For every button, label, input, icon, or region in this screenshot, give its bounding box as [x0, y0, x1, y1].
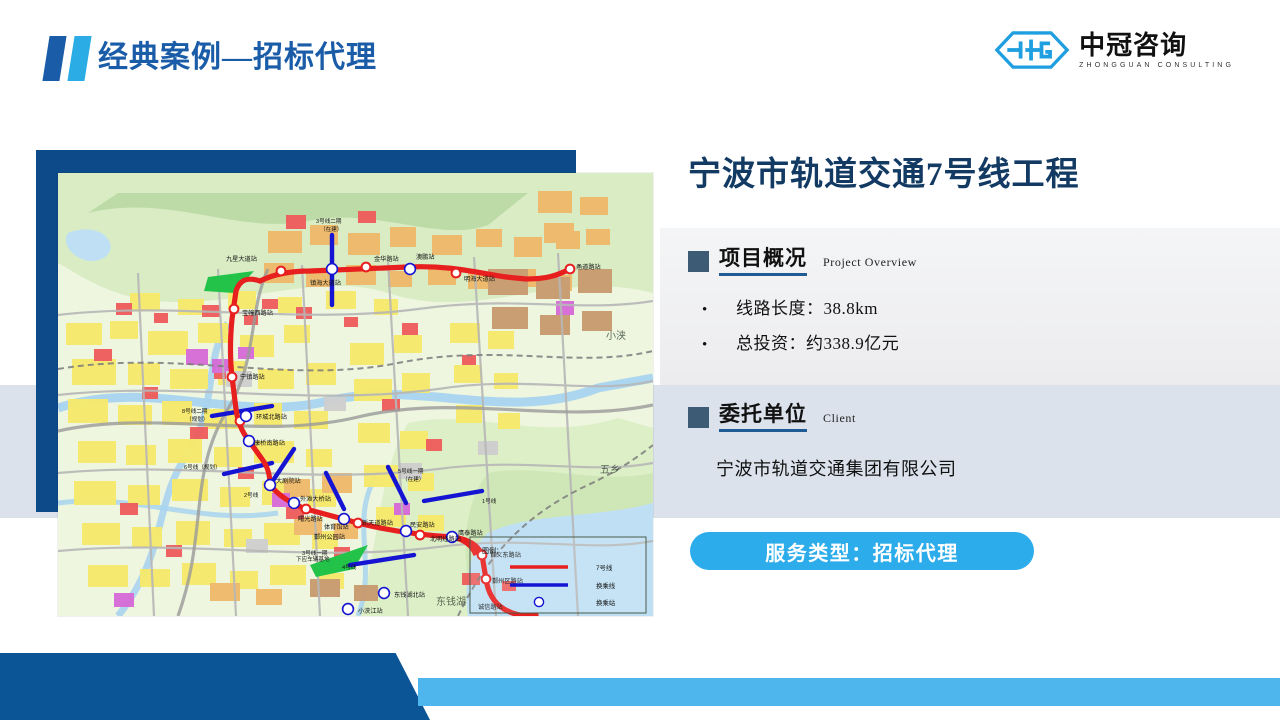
footer-shape-dark	[0, 653, 430, 720]
svg-text:（在建）: （在建）	[320, 225, 342, 233]
svg-text:甬道路站: 甬道路站	[576, 263, 601, 271]
title-accent-icon	[46, 36, 92, 81]
svg-text:金华路站: 金华路站	[374, 255, 399, 263]
svg-text:九星大道站: 九星大道站	[226, 255, 257, 263]
overview-title-en: Project Overview	[823, 255, 917, 270]
svg-text:环城北路站: 环城北路站	[256, 413, 287, 421]
overview-bullet-text: 线路长度：38.8km	[736, 299, 878, 318]
svg-text:2号线: 2号线	[244, 491, 259, 499]
svg-text:图例：: 图例：	[482, 546, 503, 555]
map-legend: 图例： 7号线 换乘线 换乘站	[470, 537, 646, 613]
svg-text:4号线: 4号线	[342, 563, 357, 571]
page-header: 经典案例—招标代理 中冠咨询 ZHONGGUAN CONSULTING	[0, 0, 1280, 110]
svg-text:五乡: 五乡	[600, 464, 620, 476]
overview-bullet-list: •线路长度：38.8km •总投资：约338.9亿元	[702, 292, 899, 362]
svg-text:鄞州公园站: 鄞州公园站	[314, 533, 345, 541]
logo-text: 中冠咨询 ZHONGGUAN CONSULTING	[1079, 32, 1234, 69]
svg-text:5号线一期: 5号线一期	[398, 467, 424, 475]
title-accent-bar-dark	[42, 36, 66, 81]
client-section: 委托单位 Client	[688, 402, 856, 432]
logo-subtitle: ZHONGGUAN CONSULTING	[1079, 62, 1234, 69]
svg-text:北明经路站: 北明经路站	[430, 535, 461, 543]
list-item: •总投资：约338.9亿元	[702, 327, 899, 362]
svg-text:小浃江站: 小浃江站	[358, 607, 383, 615]
svg-text:体育馆站: 体育馆站	[324, 523, 349, 531]
svg-text:宁镇路站: 宁镇路站	[240, 373, 265, 381]
svg-text:换乘站: 换乘站	[596, 598, 616, 607]
bullet-glyph: •	[702, 328, 736, 362]
svg-text:外滩大桥站: 外滩大桥站	[300, 495, 331, 503]
client-heading: 委托单位 Client	[688, 402, 856, 432]
svg-text:3号线一期: 3号线一期	[302, 549, 328, 557]
svg-text:澳鹏站: 澳鹏站	[416, 253, 435, 261]
footer-shape-light	[418, 678, 1280, 706]
svg-text:大剧院站: 大剧院站	[276, 477, 301, 485]
project-map-image[interactable]: 九星大道站 宝幢西路站 镇海大道站 金华路站 澳鹏站 明海大道站 甬道路站 宁镇…	[58, 173, 653, 616]
client-square-icon	[688, 407, 709, 428]
svg-text:小浃: 小浃	[606, 329, 626, 342]
svg-text:6号线（规划）: 6号线（规划）	[184, 463, 221, 471]
svg-text:（规划）: （规划）	[186, 415, 208, 423]
client-title-underline: 委托单位	[719, 402, 807, 432]
client-title-cn: 委托单位	[719, 402, 807, 426]
svg-text:7号线: 7号线	[596, 563, 613, 572]
svg-text:3号线二期: 3号线二期	[316, 217, 342, 225]
brand-logo: 中冠咨询 ZHONGGUAN CONSULTING	[994, 27, 1234, 73]
svg-text:曙光路站: 曙光路站	[298, 515, 323, 523]
svg-text:东钱湖北站: 东钱湖北站	[394, 591, 425, 599]
svg-text:镇海大道站: 镇海大道站	[310, 279, 341, 287]
list-item: •线路长度：38.8km	[702, 292, 899, 327]
svg-text:（在建）: （在建）	[402, 475, 424, 483]
overview-heading: 项目概况 Project Overview	[688, 246, 917, 276]
svg-text:明海大道站: 明海大道站	[464, 275, 495, 283]
title-accent-bar-light	[67, 36, 91, 81]
logo-name: 中冠咨询	[1079, 32, 1234, 58]
overview-section: 项目概况 Project Overview	[688, 246, 917, 276]
project-info-panel: 宁波市轨道交通7号线工程 项目概况 Project Overview •线路长度…	[688, 150, 1264, 200]
overview-square-icon	[688, 251, 709, 272]
page-title: 经典案例—招标代理	[98, 36, 377, 80]
svg-text:换乘线: 换乘线	[596, 581, 616, 590]
client-title-en: Client	[823, 411, 856, 426]
project-title: 宁波市轨道交通7号线工程	[688, 150, 1264, 200]
logo-emblem-icon	[994, 30, 1070, 70]
svg-text:宝幢西路站: 宝幢西路站	[242, 309, 273, 317]
client-name-value: 宁波市轨道交通集团有限公司	[716, 455, 957, 481]
svg-text:下应车辆基地: 下应车辆基地	[296, 555, 330, 563]
svg-text:鹰泰路站: 鹰泰路站	[458, 529, 483, 537]
svg-text:民安路站: 民安路站	[410, 521, 435, 529]
overview-bullet-text: 总投资：约338.9亿元	[736, 334, 899, 353]
overview-title-underline: 项目概况	[719, 246, 807, 276]
svg-text:东钱湖: 东钱湖	[436, 595, 466, 608]
svg-text:1号线: 1号线	[482, 497, 497, 505]
overview-title-cn: 项目概况	[719, 246, 807, 270]
svg-text:8号线二期: 8号线二期	[182, 407, 208, 415]
service-type-badge[interactable]: 服务类型：招标代理	[690, 532, 1034, 570]
svg-text:新天道路站: 新天道路站	[362, 519, 393, 527]
metro-line-map: 九星大道站 宝幢西路站 镇海大道站 金华路站 澳鹏站 明海大道站 甬道路站 宁镇…	[58, 173, 653, 616]
svg-text:康桥南路站: 康桥南路站	[254, 439, 285, 447]
bullet-glyph: •	[702, 293, 736, 327]
